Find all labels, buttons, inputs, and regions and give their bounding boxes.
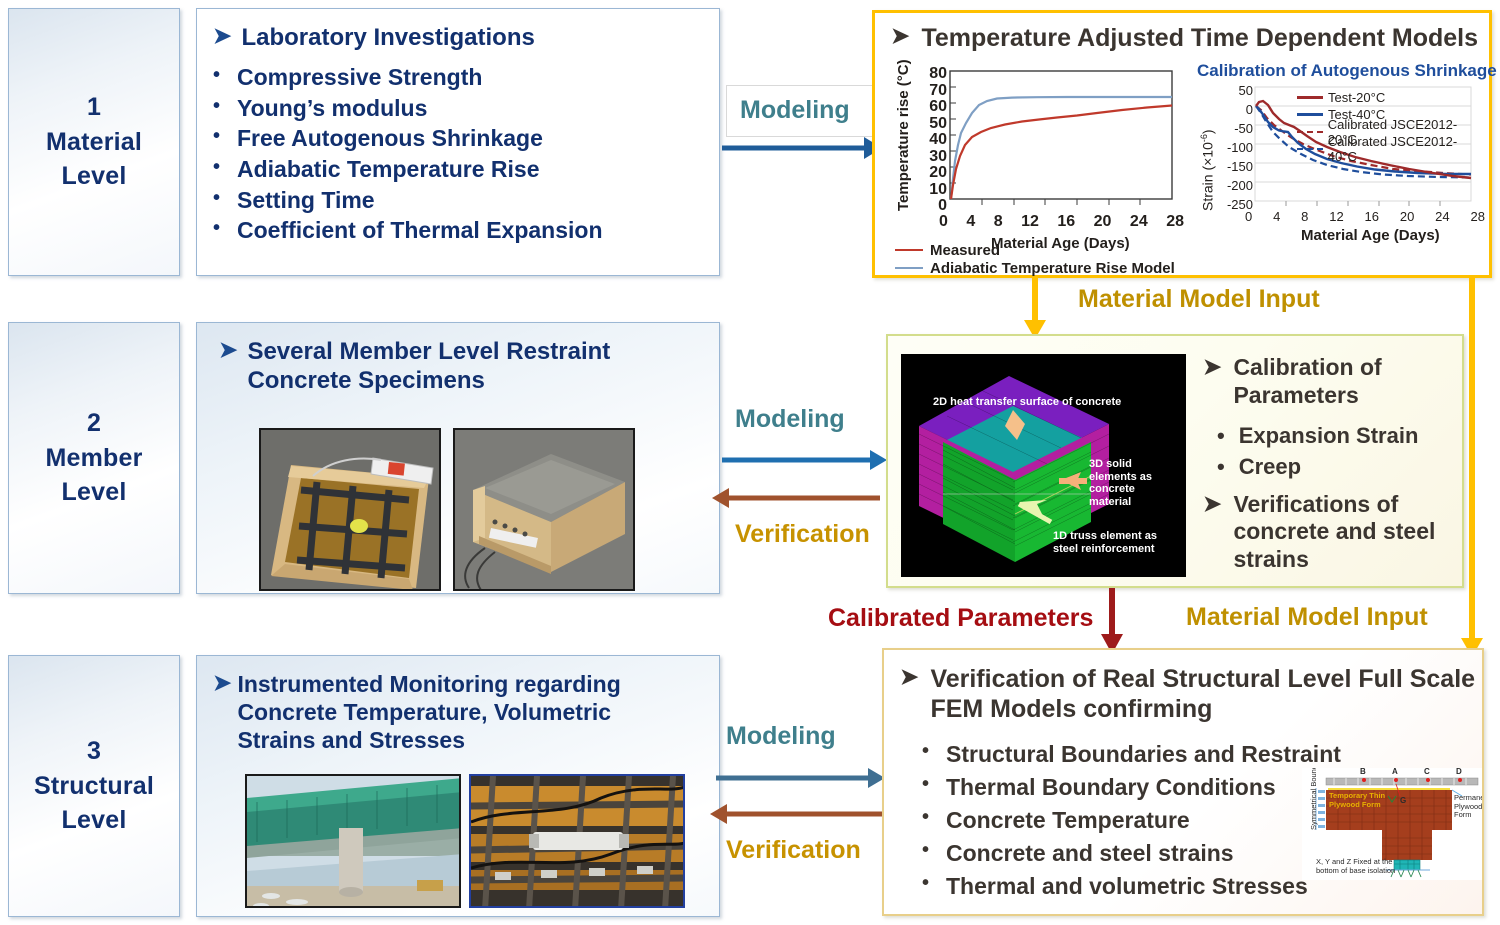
bullet-dot-icon: • xyxy=(922,804,932,831)
sketch-base-fix-label: X, Y and Z Fixed at the bottom of base i… xyxy=(1316,858,1395,875)
sketch-point-G: G xyxy=(1400,796,1406,805)
structural-heading-line-3: Strains and Stresses xyxy=(237,727,465,753)
legend-swatch-cal20 xyxy=(1297,131,1323,133)
fem-label-bottom: 1D truss element as steel reinforcement xyxy=(1053,530,1157,555)
lab-investigations-heading: ➤ Laboratory Investigations xyxy=(213,23,703,52)
structural-level-description: ➤ Instrumented Monitoring regarding Conc… xyxy=(196,655,720,917)
autogenous-shrinkage-chart: Calibration of Autogenous Shrinkage Stra… xyxy=(1193,61,1485,273)
modeling-label-1: Modeling xyxy=(740,96,850,125)
member-heading-line-1: Several Member Level Restraint xyxy=(247,338,610,365)
structural-heading-1: Verification of Real Structural Level Fu… xyxy=(930,665,1475,693)
legend-label-cal40: Calibrated JSCE2012-40°C xyxy=(1328,134,1485,164)
level-box-2: 2 Member Level xyxy=(8,322,180,594)
bullet-dot-icon: • xyxy=(922,837,932,864)
member-level-description: ➤ Several Member Level Restraint Concret… xyxy=(196,322,720,594)
bullet-dot-icon: • xyxy=(213,93,223,120)
list-item: •Adiabatic Temperature Rise xyxy=(213,154,703,185)
temperature-models-title-label: Temperature Adjusted Time Dependent Mode… xyxy=(921,23,1478,53)
lab-investigations-label: Laboratory Investigations xyxy=(241,23,534,52)
bridge-photo xyxy=(245,774,461,908)
bullet-dot-icon: • xyxy=(213,123,223,150)
material-model-input-label-1: Material Model Input xyxy=(1078,285,1320,314)
level-box-3: 3 Structural Level xyxy=(8,655,180,917)
list-item: •Young’s modulus xyxy=(213,93,703,124)
member-specimens-heading: ➤ Several Member Level Restraint Concret… xyxy=(213,337,703,396)
list-item: •Structural Boundaries and Restraint xyxy=(922,738,1482,771)
member-heading-line-2: Concrete Specimens xyxy=(247,367,484,394)
level-box-1: 1 Material Level xyxy=(8,8,180,276)
calibrated-parameters-label: Calibrated Parameters xyxy=(828,604,1093,633)
sketch-permanent-form-label: Permanent Plywood Form xyxy=(1454,794,1482,820)
legend-swatch-test20 xyxy=(1297,96,1323,99)
fem-cube-image: 2D heat transfer surface of concrete 3D … xyxy=(901,354,1186,577)
chevron-right-icon: ➤ xyxy=(213,671,231,695)
sketch-point-B: B xyxy=(1360,768,1366,776)
bullet-dot-icon: • xyxy=(922,771,932,798)
rebar-instrumentation-photo xyxy=(469,774,685,908)
chevron-right-icon: ➤ xyxy=(891,23,909,49)
bullet-dot-icon: • xyxy=(213,185,223,212)
chevron-right-icon: ➤ xyxy=(1203,354,1221,380)
adiabatic-temperature-chart: Temperature rise (°C) 80 70 60 50 40 30 … xyxy=(887,61,1182,271)
calibration-of-parameters-heading: ➤ Calibration of Parameters xyxy=(1203,354,1459,409)
legend-label-measured: Measured xyxy=(930,242,1000,259)
fem-label-top: 2D heat transfer surface of concrete xyxy=(933,396,1121,409)
legend-swatch-adiabatic xyxy=(895,267,923,270)
list-item: •Compressive Strength xyxy=(213,62,703,93)
chevron-right-icon: ➤ xyxy=(900,664,918,690)
legend-swatch-measured xyxy=(895,249,923,252)
legend-label-test20: Test-20°C xyxy=(1328,90,1385,105)
bullet-dot-icon: • xyxy=(922,870,932,897)
list-item: •Setting Time xyxy=(213,185,703,216)
level-1-text: 1 Material Level xyxy=(46,90,142,194)
chevron-right-icon: ➤ xyxy=(213,24,231,48)
chart1-legend: Measured Adiabatic Temperature Rise Mode… xyxy=(895,241,1175,277)
bullet-dot-icon: • xyxy=(213,215,223,242)
material-model-input-label-2: Material Model Input xyxy=(1186,603,1428,632)
verifications-heading: ➤ Verifications of concrete and steel st… xyxy=(1203,491,1459,574)
bullet-dot-icon: • xyxy=(1217,452,1225,483)
chevron-right-icon: ➤ xyxy=(1203,491,1221,517)
level-2-text: 2 Member Level xyxy=(45,406,142,510)
list-item: •Coefficient of Thermal Expansion xyxy=(213,215,703,246)
structural-heading-line-1: Instrumented Monitoring regarding xyxy=(237,671,620,697)
diagram-canvas: 1 Material Level ➤ Laboratory Investigat… xyxy=(0,0,1500,925)
legend-label-adiabatic: Adiabatic Temperature Rise Model xyxy=(930,260,1175,277)
legend-swatch-cal40 xyxy=(1297,148,1323,150)
sketch-point-C: C xyxy=(1424,768,1430,776)
lab-investigations-bullet-list: •Compressive Strength •Young’s modulus •… xyxy=(213,62,703,245)
structural-heading-line-2: Concrete Temperature, Volumetric xyxy=(237,699,611,725)
fem-label-right: 3D solid elements as concrete material xyxy=(1089,458,1152,509)
modeling-label-3: Modeling xyxy=(726,722,836,751)
member-specimen-photo-2 xyxy=(453,428,635,591)
structural-heading-2: FEM Models confirming xyxy=(930,695,1212,723)
bullet-dot-icon: • xyxy=(1217,421,1225,452)
bullet-dot-icon: • xyxy=(213,154,223,181)
fem-calibration-text: ➤ Calibration of Parameters • Expansion … xyxy=(1203,354,1459,574)
legend-swatch-test40 xyxy=(1297,113,1323,116)
modeling-label-2: Modeling xyxy=(735,405,845,434)
level-3-text: 3 Structural Level xyxy=(34,734,154,838)
material-level-description: ➤ Laboratory Investigations •Compressive… xyxy=(196,8,720,276)
temperature-models-title: ➤ Temperature Adjusted Time Dependent Mo… xyxy=(891,23,1489,53)
calibration-sub-bullets: • Expansion Strain • Creep xyxy=(1203,421,1459,483)
structural-verification-panel: ➤ Verification of Real Structural Level … xyxy=(882,648,1484,916)
sketch-point-A: A xyxy=(1392,768,1398,776)
chart2-xlabel: Material Age (Days) xyxy=(1301,227,1440,244)
bullet-dot-icon: • xyxy=(213,62,223,89)
chart2-legend: Test-20°C Test-40°C Calibrated JSCE2012-… xyxy=(1297,89,1485,157)
bullet-dot-icon: • xyxy=(922,738,932,765)
structural-fem-sketch: B A C D G Symmetrical Boundary (Y) Tempo… xyxy=(1302,768,1482,880)
list-item: •Free Autogenous Shrinkage xyxy=(213,123,703,154)
fem-calibration-panel: 2D heat transfer surface of concrete 3D … xyxy=(886,334,1464,588)
verification-label-3: Verification xyxy=(726,836,861,865)
sketch-temporary-form-label: Temporary Thin Plywood Form xyxy=(1329,792,1385,809)
structural-verification-heading: ➤ Verification of Real Structural Level … xyxy=(900,664,1482,724)
sketch-point-D: D xyxy=(1456,768,1462,776)
list-item: • Expansion Strain xyxy=(1203,421,1459,452)
instrumented-monitoring-heading: ➤ Instrumented Monitoring regarding Conc… xyxy=(213,670,703,754)
member-specimen-photo-1 xyxy=(259,428,441,591)
verification-label-2: Verification xyxy=(735,520,870,549)
temperature-models-panel: ➤ Temperature Adjusted Time Dependent Mo… xyxy=(872,10,1492,278)
chevron-right-icon: ➤ xyxy=(219,338,237,362)
list-item: • Creep xyxy=(1203,452,1459,483)
sketch-symmetry-label: Symmetrical Boundary (Y) xyxy=(1310,768,1319,830)
